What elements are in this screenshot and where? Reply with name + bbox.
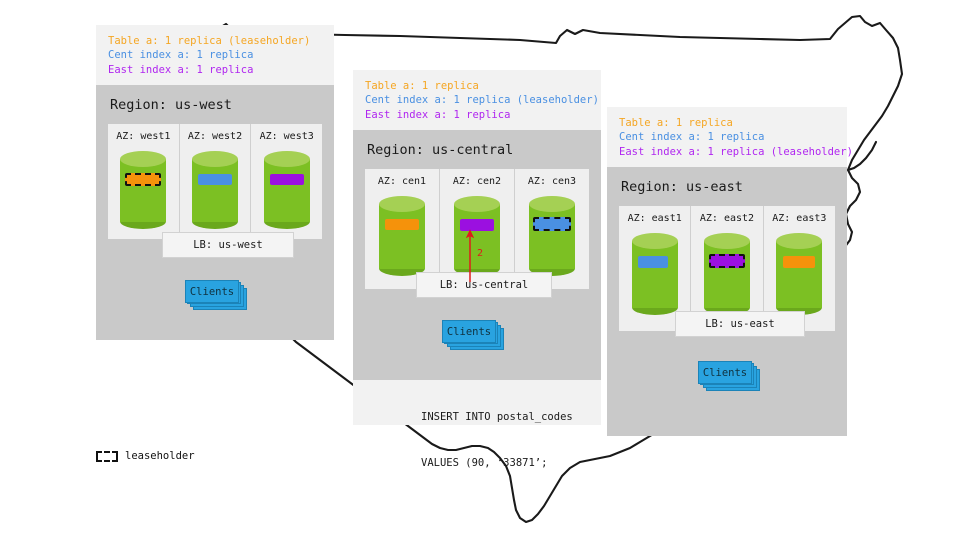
arrow-step-label: 2 xyxy=(477,248,483,259)
cylinder-body xyxy=(120,159,166,222)
az-label: AZ: cen3 xyxy=(528,176,576,187)
az-label: AZ: east3 xyxy=(772,213,826,224)
clients-label[interactable]: Clients xyxy=(698,361,752,384)
load-balancer-us-east[interactable]: LB: us-east xyxy=(675,311,805,337)
node-cylinder-east2[interactable] xyxy=(704,233,750,315)
cylinder-body xyxy=(632,241,678,308)
node-cylinder-west2[interactable] xyxy=(192,151,238,225)
replica-legend-us-west: Table a: 1 replica (leaseholder) Cent in… xyxy=(96,25,334,85)
replica-chip[interactable] xyxy=(270,174,304,185)
az-label: AZ: east1 xyxy=(628,213,682,224)
replica-chip[interactable] xyxy=(638,256,668,268)
az-label: AZ: cen1 xyxy=(378,176,426,187)
replica-chip-leaseholder[interactable] xyxy=(125,173,161,186)
az-cell-west1[interactable]: AZ: west1 xyxy=(108,124,180,239)
node-cylinder-east3[interactable] xyxy=(776,233,822,315)
leaseholder-legend-label: leaseholder xyxy=(125,450,195,462)
dashed-rect-icon xyxy=(96,451,118,462)
cylinder-body xyxy=(192,159,238,222)
replica-line-east: East index a: 1 replica xyxy=(365,108,589,122)
cylinder-body xyxy=(379,204,425,269)
az-row-us-west: AZ: west1 AZ: west2 xyxy=(108,124,322,239)
az-cell-west3[interactable]: AZ: west3 xyxy=(251,124,322,239)
clients-label[interactable]: Clients xyxy=(442,320,496,343)
replica-line-table: Table a: 1 replica xyxy=(619,116,835,130)
az-label: AZ: west3 xyxy=(260,131,314,142)
cylinder-body xyxy=(776,241,822,308)
region-title: Region: us-east xyxy=(621,179,835,195)
region-title: Region: us-west xyxy=(110,97,322,113)
replica-line-cent: Cent index a: 1 replica xyxy=(619,130,835,144)
clients-us-west[interactable]: Clients xyxy=(185,280,247,310)
node-cylinder-east1[interactable] xyxy=(632,233,678,315)
sql-line-2: VALUES (90, ‘33871’; xyxy=(421,456,573,471)
node-cylinder-west3[interactable] xyxy=(264,151,310,225)
replica-line-east: East index a: 1 replica (leaseholder) xyxy=(619,145,835,159)
sql-line-1: INSERT INTO postal_codes xyxy=(421,410,573,425)
node-cylinder-cen3[interactable] xyxy=(529,196,575,275)
clients-us-east[interactable]: Clients xyxy=(698,361,760,391)
az-label: AZ: west2 xyxy=(188,131,242,142)
replica-chip[interactable] xyxy=(783,256,815,268)
replica-line-cent: Cent index a: 1 replica xyxy=(108,48,322,62)
replica-line-table: Table a: 1 replica (leaseholder) xyxy=(108,34,322,48)
replica-line-east: East index a: 1 replica xyxy=(108,63,322,77)
leaseholder-legend: leaseholder xyxy=(96,450,195,462)
cylinder-body xyxy=(704,241,750,308)
region-title: Region: us-central xyxy=(367,142,589,158)
replica-legend-us-central: Table a: 1 replica Cent index a: 1 repli… xyxy=(353,70,601,130)
load-balancer-us-central[interactable]: LB: us-central xyxy=(416,272,552,298)
az-label: AZ: cen2 xyxy=(453,176,501,187)
cylinder-body xyxy=(264,159,310,222)
replica-chip[interactable] xyxy=(385,219,419,230)
replica-line-cent: Cent index a: 1 replica (leaseholder) xyxy=(365,93,589,107)
replica-line-table: Table a: 1 replica xyxy=(365,79,589,93)
clients-us-central[interactable]: Clients xyxy=(442,320,504,350)
load-balancer-us-west[interactable]: LB: us-west xyxy=(162,232,294,258)
replica-chip-leaseholder[interactable] xyxy=(709,254,745,268)
node-cylinder-west1[interactable] xyxy=(120,151,166,225)
replica-legend-us-east: Table a: 1 replica Cent index a: 1 repli… xyxy=(607,107,847,167)
clients-label[interactable]: Clients xyxy=(185,280,239,303)
diagram-stage: Table a: 1 replica (leaseholder) Cent in… xyxy=(0,0,960,540)
sql-statement: INSERT INTO postal_codes VALUES (90, ‘33… xyxy=(421,380,573,502)
replica-chip[interactable] xyxy=(198,174,232,185)
replica-chip-leaseholder[interactable] xyxy=(533,217,571,231)
az-label: AZ: west1 xyxy=(116,131,170,142)
node-cylinder-cen1[interactable] xyxy=(379,196,425,275)
region-body-us-east: Region: us-east AZ: east1 AZ: east2 xyxy=(607,167,847,436)
az-cell-west2[interactable]: AZ: west2 xyxy=(180,124,252,239)
az-label: AZ: east2 xyxy=(700,213,754,224)
cylinder-body xyxy=(529,204,575,269)
